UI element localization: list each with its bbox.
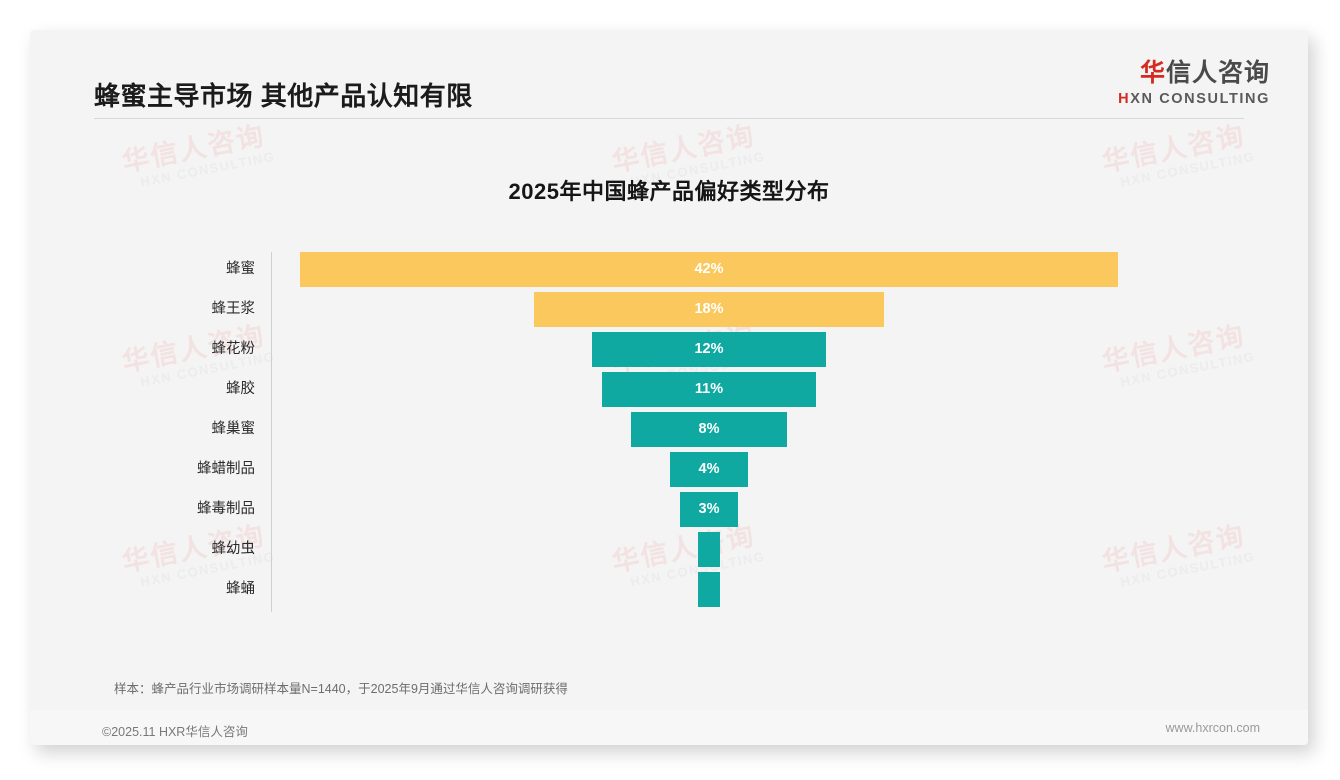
bar-track: 4%: [271, 452, 1308, 487]
bars-container: 蜂蜜42%蜂王浆18%蜂花粉12%蜂胶11%蜂巢蜜8%蜂蜡制品4%蜂毒制品3%蜂…: [30, 252, 1308, 607]
bar-category-label: 蜂花粉: [30, 332, 255, 367]
bar-row: 蜂幼虫: [30, 532, 1308, 567]
bar-value-label: 42%: [300, 252, 1118, 287]
bar-value-label: 3%: [680, 492, 738, 527]
slide-footer: ©2025.11 HXR华信人咨询 www.hxrcon.com: [30, 710, 1308, 745]
bar-value-label: 11%: [602, 372, 816, 407]
bar-row: 蜂蜜42%: [30, 252, 1308, 287]
bar-row: 蜂王浆18%: [30, 292, 1308, 327]
logo-en-rest: XN CONSULTING: [1130, 91, 1270, 107]
bar-row: 蜂巢蜜8%: [30, 412, 1308, 447]
bar-category-label: 蜂蜡制品: [30, 452, 255, 487]
bar-track: 3%: [271, 492, 1308, 527]
bar-row: 蜂花粉12%: [30, 332, 1308, 367]
bar-category-label: 蜂蛹: [30, 572, 255, 607]
logo-en-accent: H: [1118, 91, 1130, 107]
bar-row: 蜂蜡制品4%: [30, 452, 1308, 487]
bar-category-label: 蜂王浆: [30, 292, 255, 327]
bar-track: 11%: [271, 372, 1308, 407]
bar-track: 42%: [271, 252, 1308, 287]
bar-segment[interactable]: [698, 572, 720, 607]
chart-area: 2025年中国蜂产品偏好类型分布 蜂蜜42%蜂王浆18%蜂花粉12%蜂胶11%蜂…: [30, 122, 1308, 667]
bar-value-label: 4%: [670, 452, 748, 487]
bar-track: 18%: [271, 292, 1308, 327]
bar-track: [271, 532, 1308, 567]
header-divider: [94, 118, 1244, 119]
bar-value-label: 18%: [534, 292, 885, 327]
bar-value-label: 12%: [592, 332, 826, 367]
bar-category-label: 蜂胶: [30, 372, 255, 407]
logo-cn-rest: 信人咨询: [1166, 59, 1270, 87]
logo-chinese-text: 华信人咨询: [1118, 60, 1270, 88]
page-title: 蜂蜜主导市场 其他产品认知有限: [94, 76, 473, 113]
bar-track: 8%: [271, 412, 1308, 447]
slide-card: 华信人咨询HXN CONSULTING华信人咨询HXN CONSULTING华信…: [30, 30, 1308, 745]
slide-header: 蜂蜜主导市场 其他产品认知有限: [30, 30, 1308, 122]
bar-track: [271, 572, 1308, 607]
bar-category-label: 蜂蜜: [30, 252, 255, 287]
bar-row: 蜂胶11%: [30, 372, 1308, 407]
bar-row: 蜂毒制品3%: [30, 492, 1308, 527]
brand-logo: 华信人咨询 HXN CONSULTING: [1118, 60, 1270, 108]
logo-cn-accent: 华: [1140, 59, 1166, 87]
footnote: 样本：蜂产品行业市场调研样本量N=1440，于2025年9月通过华信人咨询调研获…: [114, 678, 568, 697]
bar-track: 12%: [271, 332, 1308, 367]
bar-category-label: 蜂幼虫: [30, 532, 255, 567]
bar-value-label: 8%: [631, 412, 787, 447]
bar-category-label: 蜂毒制品: [30, 492, 255, 527]
bar-category-label: 蜂巢蜜: [30, 412, 255, 447]
copyright-text: ©2025.11 HXR华信人咨询: [102, 721, 248, 740]
funnel-chart-plot: 蜂蜜42%蜂王浆18%蜂花粉12%蜂胶11%蜂巢蜜8%蜂蜡制品4%蜂毒制品3%蜂…: [30, 252, 1308, 622]
chart-title: 2025年中国蜂产品偏好类型分布: [30, 174, 1308, 206]
bar-row: 蜂蛹: [30, 572, 1308, 607]
logo-english-text: HXN CONSULTING: [1118, 91, 1270, 108]
bar-segment[interactable]: [698, 532, 720, 567]
website-url[interactable]: www.hxrcon.com: [1166, 721, 1260, 735]
